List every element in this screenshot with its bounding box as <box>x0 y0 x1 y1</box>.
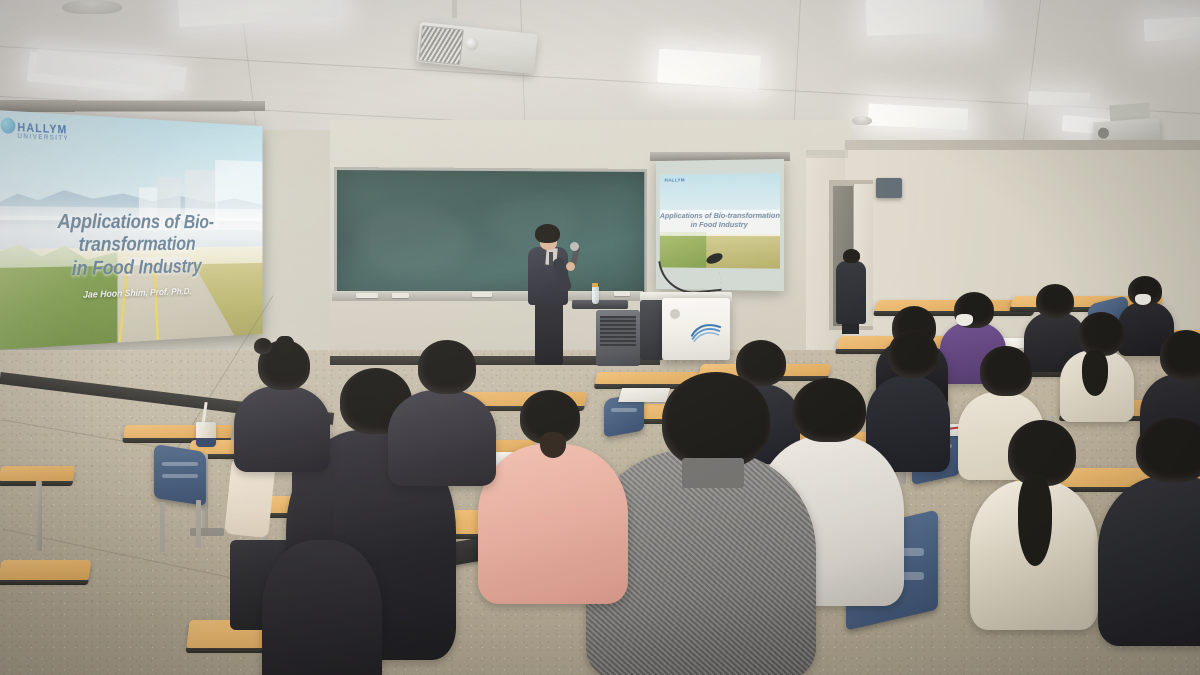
face-mask <box>956 314 973 326</box>
secondary-slide-logo: HALLYM <box>665 177 685 182</box>
smoke-detector-icon <box>62 0 122 14</box>
side-table <box>572 300 628 309</box>
student-desk <box>0 466 75 481</box>
ceiling-light-panel <box>657 48 761 89</box>
microphone-capsule-icon <box>570 242 579 251</box>
lectern-control-knob[interactable] <box>670 309 680 319</box>
chalkboard-eraser[interactable] <box>392 293 409 298</box>
face-mask <box>1135 294 1151 305</box>
projection-screen-main: HALLYM UNIVERSITY Applications of Bio-tr… <box>0 110 263 350</box>
lectern-side-panel <box>640 300 664 360</box>
secondary-slide-title-line2: in Food Industry <box>660 220 780 229</box>
person-at-door-coat <box>836 261 866 324</box>
chalkboard-eraser[interactable] <box>614 291 630 296</box>
student-desk <box>123 425 233 438</box>
projector-vent-icon <box>418 25 464 65</box>
screen-roller-bar <box>0 100 265 112</box>
university-wave-logo-icon <box>690 320 722 342</box>
chalkboard-eraser[interactable] <box>356 293 378 298</box>
projector-lens-icon <box>465 37 479 51</box>
secondary-slide-title: Applications of Bio-transformation in Fo… <box>660 211 780 230</box>
screen-glare <box>0 110 263 350</box>
notebook <box>618 388 670 402</box>
chalkboard <box>334 167 647 300</box>
wall-speaker <box>876 178 902 198</box>
water-bottle <box>592 286 599 304</box>
presenter-hair <box>535 224 560 243</box>
ceiling-light-panel <box>1028 91 1090 107</box>
projector-lens-icon <box>1098 127 1110 139</box>
lecture-hall-photo: HALLYM UNIVERSITY Applications of Bio-tr… <box>0 0 1200 675</box>
drink-cup-holder <box>196 438 216 447</box>
presenter-legs <box>535 303 563 365</box>
student-desk <box>0 560 91 580</box>
smoke-detector-icon <box>852 116 872 125</box>
presenter-hand <box>566 262 575 271</box>
person-at-door-hair <box>843 249 860 263</box>
equipment-vent-icon <box>600 316 636 346</box>
ceiling-light-panel <box>1143 16 1200 41</box>
ceiling-light-panel <box>865 0 984 36</box>
chalkboard-eraser[interactable] <box>472 292 492 297</box>
secondary-slide-title-line1: Applications of Bio-transformation <box>660 211 780 221</box>
